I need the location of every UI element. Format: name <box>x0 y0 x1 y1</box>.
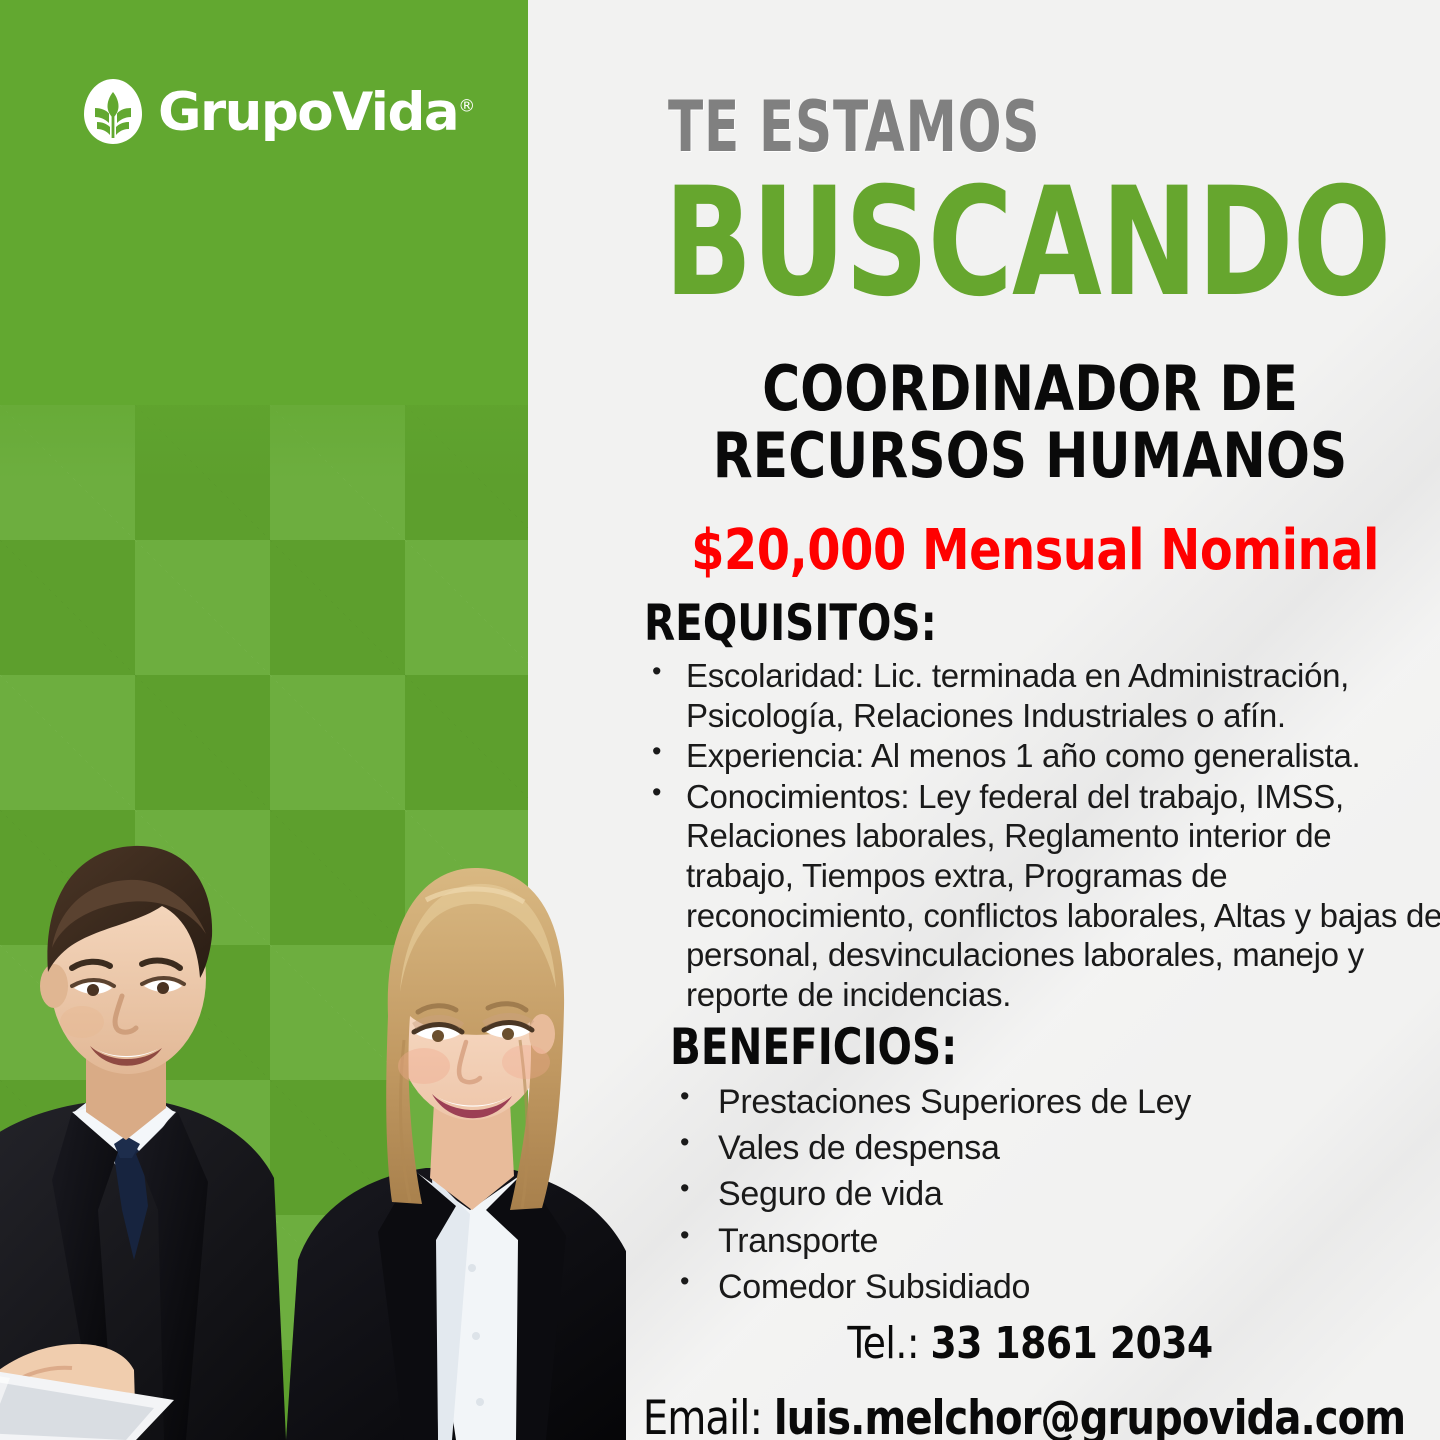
benefits-heading: BENEFICIOS: <box>670 1018 1354 1076</box>
brand-logo: GrupoVida® <box>82 78 475 146</box>
man-figure <box>0 846 286 1440</box>
job-title-line-1: COORDINADOR DE <box>649 356 1412 423</box>
brand-name: GrupoVida® <box>158 86 475 139</box>
list-item: Escolaridad: Lic. terminada en Administr… <box>644 656 1440 735</box>
list-item: Comedor Subsidiado <box>670 1265 1430 1310</box>
contact-section: Tel.: 33 1861 2034 Email: luis.melchor@g… <box>620 1318 1440 1440</box>
list-item: Vales de despensa <box>670 1126 1430 1171</box>
job-title-line-2: RECURSOS HUMANOS <box>649 423 1412 490</box>
phone-number[interactable]: 33 1861 2034 <box>931 1318 1213 1369</box>
requirements-section: REQUISITOS: Escolaridad: Lic. terminada … <box>644 594 1440 1015</box>
brand-name-text: GrupoVida <box>158 82 458 143</box>
green-panel-top-fade <box>0 330 528 480</box>
phone-line: Tel.: 33 1861 2034 <box>641 1318 1420 1369</box>
list-item: Experiencia: Al menos 1 año como general… <box>644 736 1440 776</box>
headline-main: BUSCANDO <box>664 168 1390 318</box>
job-posting-poster: GrupoVida® <box>0 0 1440 1440</box>
job-title: COORDINADOR DE RECURSOS HUMANOS <box>649 356 1412 490</box>
business-people-photo <box>0 740 626 1440</box>
requirements-list: Escolaridad: Lic. terminada en Administr… <box>644 656 1440 1014</box>
email-line: Email: luis.melchor@grupovida.com <box>629 1391 1419 1440</box>
phone-label: Tel.: <box>847 1318 930 1369</box>
headline-kicker: TE ESTAMOS <box>668 92 1040 162</box>
list-item: Seguro de vida <box>670 1172 1430 1217</box>
list-item: Transporte <box>670 1219 1430 1264</box>
benefits-list: Prestaciones Superiores de Ley Vales de … <box>670 1080 1430 1310</box>
registered-trademark-icon: ® <box>458 96 475 116</box>
list-item: Conocimientos: Ley federal del trabajo, … <box>644 777 1440 1015</box>
requirements-heading: REQUISITOS: <box>644 594 1364 652</box>
woman-figure <box>286 868 626 1440</box>
email-address[interactable]: luis.melchor@grupovida.com <box>774 1391 1405 1440</box>
leaf-plant-icon <box>82 78 144 146</box>
poster-content: TE ESTAMOS BUSCANDO COORDINADOR DE RECUR… <box>620 0 1440 1440</box>
benefits-section: BENEFICIOS: Prestaciones Superiores de L… <box>670 1018 1430 1311</box>
list-item: Prestaciones Superiores de Ley <box>670 1080 1430 1125</box>
email-label: Email: <box>643 1391 774 1440</box>
salary-text: $20,000 Mensual Nominal <box>641 518 1430 583</box>
